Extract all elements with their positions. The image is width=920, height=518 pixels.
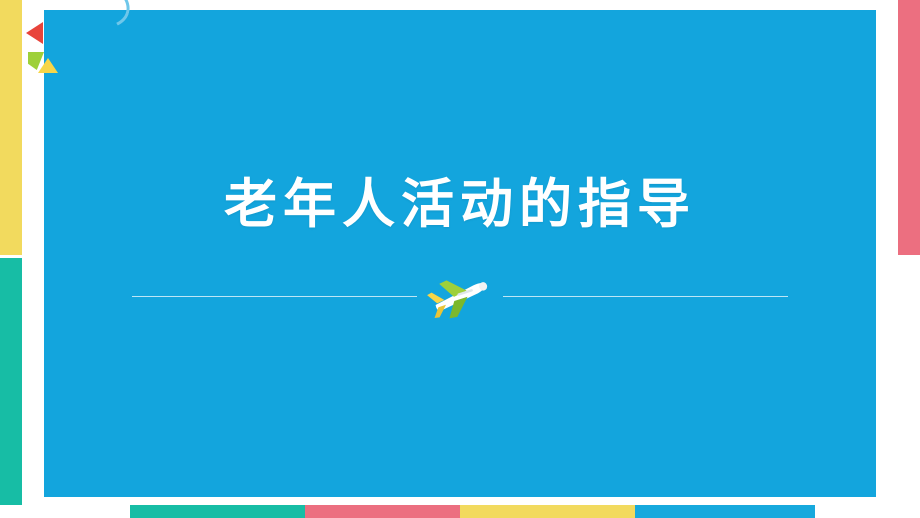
yellow-triangle-icon xyxy=(38,58,58,73)
bottom-strip-teal xyxy=(130,505,305,518)
divider-line-left xyxy=(132,296,417,297)
bottom-strip-white-right xyxy=(815,505,920,518)
presentation-slide: 老年人活动的指导 xyxy=(0,0,920,518)
bottom-strip-white-left xyxy=(0,505,130,518)
title-divider xyxy=(0,272,920,320)
red-triangle-icon xyxy=(26,22,43,44)
bottom-strip-pink xyxy=(305,505,460,518)
bottom-strip-blue xyxy=(635,505,815,518)
slide-title: 老年人活动的指导 xyxy=(0,175,920,236)
airplane-icon xyxy=(417,272,503,320)
slide-background-panel xyxy=(44,10,876,497)
bottom-strip-yellow xyxy=(460,505,635,518)
divider-line-right xyxy=(503,296,788,297)
